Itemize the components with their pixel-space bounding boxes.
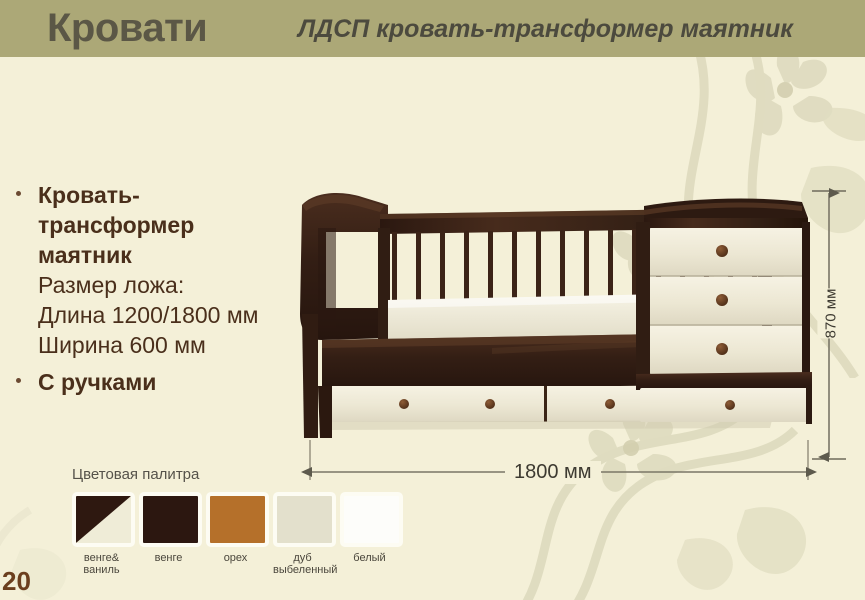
bullet-line: Кровать-: [38, 180, 300, 210]
dimension-label-height: 870 мм: [817, 289, 844, 339]
bullet-line: С ручками: [38, 367, 300, 397]
product-photo: [292, 188, 820, 450]
swatch-label: орех: [206, 552, 265, 564]
knob: [485, 399, 495, 409]
swatch-oreh[interactable]: орех: [206, 492, 265, 576]
list-item: Кровать- трансформер маятник Размер ложа…: [10, 180, 300, 360]
swatch-color-box[interactable]: [72, 492, 135, 547]
slide-canvas: Кровати ЛДСП кровать-трансформер маятник…: [0, 0, 865, 600]
swatch-venge-vanilla[interactable]: венге&ваниль: [72, 492, 131, 576]
knob: [716, 245, 728, 257]
bullet-dot-icon: [16, 378, 21, 383]
page-subtitle: ЛДСП кровать-трансформер маятник: [298, 15, 793, 44]
swatch-label: венге&ваниль: [72, 552, 131, 576]
feature-list: Кровать- трансформер маятник Размер ложа…: [10, 180, 300, 397]
knob: [716, 294, 728, 306]
page-number: 20: [2, 566, 31, 597]
swatch-color-box[interactable]: [273, 492, 336, 547]
knob: [399, 399, 409, 409]
knob: [716, 343, 728, 355]
page-title: Кровати: [47, 6, 207, 51]
swatch-white[interactable]: белый: [340, 492, 399, 576]
swatch-label: дубвыбеленный: [273, 552, 332, 576]
swatch-venge[interactable]: венге: [139, 492, 198, 576]
bullet-line: маятник: [38, 240, 300, 270]
knob: [605, 399, 615, 409]
dimension-label-width: 1800 мм: [505, 461, 601, 484]
bullet-line: Ширина 600 мм: [38, 330, 300, 360]
swatch-bleached-oak[interactable]: дубвыбеленный: [273, 492, 332, 576]
color-palette: Цветовая палитра венге&ваниль венге орех: [72, 466, 399, 576]
swatch-color-box[interactable]: [340, 492, 403, 547]
swatch-color-box[interactable]: [139, 492, 202, 547]
swatch-color-box[interactable]: [206, 492, 269, 547]
palette-title: Цветовая палитра: [72, 466, 399, 483]
slide-header: Кровати ЛДСП кровать-трансформер маятник: [0, 0, 865, 57]
list-item: С ручками: [10, 367, 300, 397]
bullet-dot-icon: [16, 191, 21, 196]
knob: [725, 400, 735, 410]
swatch-row: венге&ваниль венге орех дубвыбеленный бе…: [72, 492, 399, 576]
swatch-label: белый: [340, 552, 399, 564]
bullet-line: Длина 1200/1800 мм: [38, 300, 300, 330]
swatch-label: венге: [139, 552, 198, 564]
bullet-line: Размер ложа:: [38, 270, 300, 300]
bullet-line: трансформер: [38, 210, 300, 240]
